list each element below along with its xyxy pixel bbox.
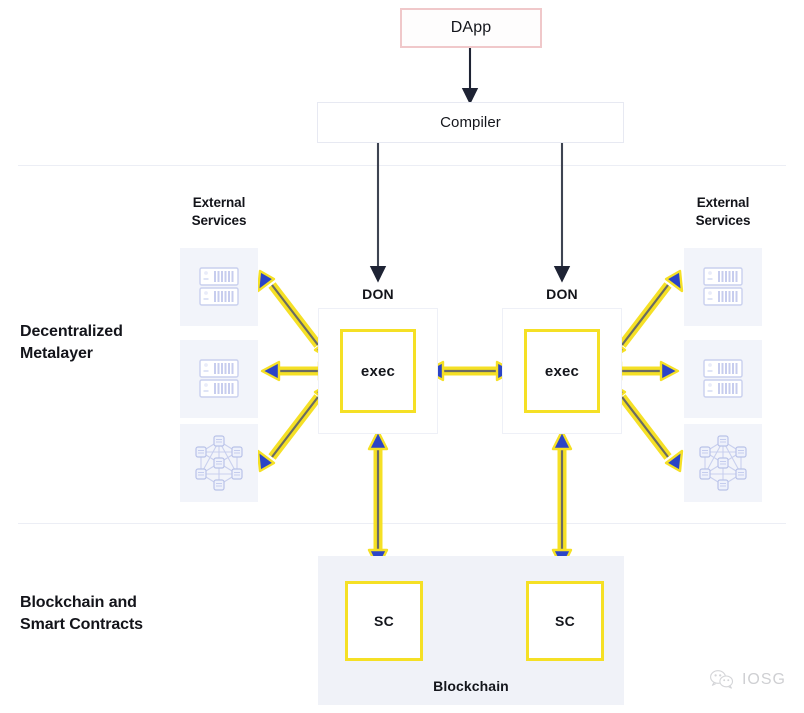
exec-box-right[interactable]: exec — [524, 329, 600, 413]
external-service-tile-left-1[interactable] — [180, 248, 258, 326]
arrow-exec-right-to-sc-right — [553, 431, 571, 568]
exec-label-right: exec — [545, 363, 579, 380]
arrow-exec-left-to-exec-right — [426, 362, 514, 380]
server-rack-icon — [700, 265, 746, 309]
exec-label-left: exec — [361, 363, 395, 380]
wechat-icon — [709, 669, 735, 691]
external-service-tile-left-2[interactable] — [180, 340, 258, 418]
don-label-left: DON — [328, 286, 428, 302]
compiler-label: Compiler — [440, 114, 501, 131]
diagram-canvas: DApp Compiler Decentralized Metalayer Bl… — [0, 0, 804, 713]
dapp-label: DApp — [451, 19, 491, 37]
smart-contract-box-1[interactable]: SC — [345, 581, 423, 661]
server-rack-icon — [196, 265, 242, 309]
watermark-label: IOSG — [742, 671, 786, 689]
mesh-network-icon — [694, 434, 752, 492]
mesh-network-icon — [190, 434, 248, 492]
external-service-tile-right-3[interactable] — [684, 424, 762, 502]
smart-contract-label-2: SC — [555, 613, 575, 629]
server-rack-icon — [196, 357, 242, 401]
layer-divider-top — [18, 165, 786, 166]
watermark: IOSG — [709, 669, 786, 691]
smart-contract-label-1: SC — [374, 613, 394, 629]
external-services-heading-right: External Services — [662, 194, 784, 230]
layer-divider-bottom — [18, 523, 786, 524]
smart-contract-box-2[interactable]: SC — [526, 581, 604, 661]
arrow-exec-left-to-sc-left — [369, 431, 387, 568]
blockchain-panel[interactable]: SC SC Blockchain — [318, 556, 624, 705]
don-label-right: DON — [512, 286, 612, 302]
server-rack-icon — [700, 357, 746, 401]
don-container-right[interactable]: exec — [502, 308, 622, 434]
don-container-left[interactable]: exec — [318, 308, 438, 434]
compiler-box[interactable]: Compiler — [317, 102, 624, 143]
section-label-blockchain: Blockchain and Smart Contracts — [20, 592, 143, 635]
external-service-tile-right-2[interactable] — [684, 340, 762, 418]
exec-box-left[interactable]: exec — [340, 329, 416, 413]
dapp-box[interactable]: DApp — [400, 8, 542, 48]
external-services-heading-left: External Services — [158, 194, 280, 230]
section-label-metalayer: Decentralized Metalayer — [20, 321, 123, 364]
external-service-tile-right-1[interactable] — [684, 248, 762, 326]
blockchain-label: Blockchain — [318, 678, 624, 694]
external-service-tile-left-3[interactable] — [180, 424, 258, 502]
